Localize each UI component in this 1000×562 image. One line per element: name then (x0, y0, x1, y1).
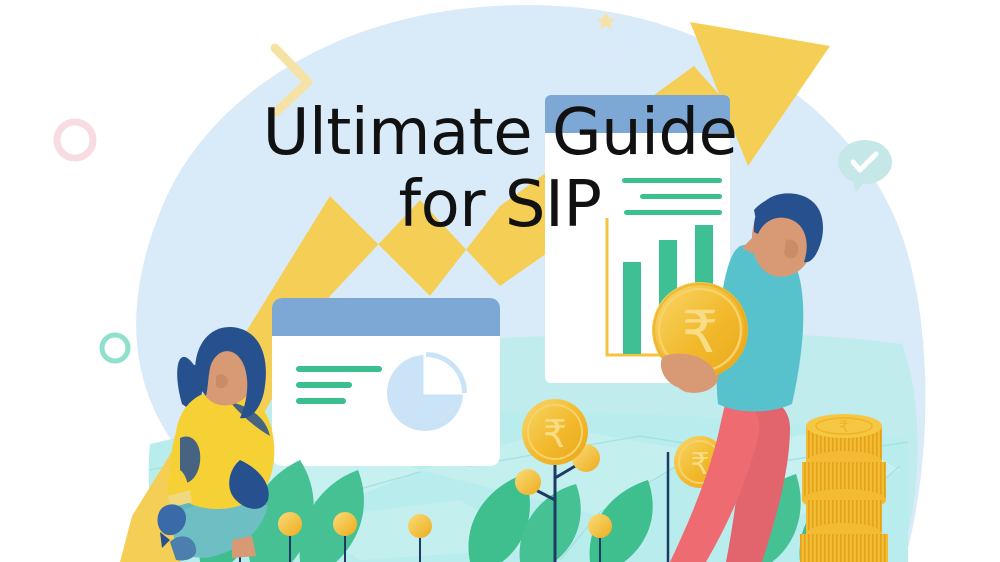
card-text-line (296, 366, 382, 372)
banner-illustration: ₹ ₹ (0, 0, 1000, 562)
coin-stack-segment (800, 534, 888, 562)
browser-card-pie-chart (272, 298, 500, 466)
document-text-line (640, 194, 722, 199)
coin-stack: ₹ (800, 414, 888, 562)
card-text-line (296, 398, 346, 404)
document-header-bar (545, 95, 730, 133)
rupee-symbol: ₹ (839, 417, 849, 436)
rupee-symbol: ₹ (543, 412, 567, 456)
bar-chart-bar (623, 262, 641, 354)
sip-guide-banner: ₹ ₹ (0, 0, 1000, 562)
woman-foot (232, 536, 256, 558)
document-text-line (622, 178, 722, 183)
card-text-line (296, 382, 352, 388)
card-header-bar (272, 298, 500, 336)
document-text-line (624, 210, 722, 215)
coin-flower-large: ₹ (522, 399, 588, 465)
